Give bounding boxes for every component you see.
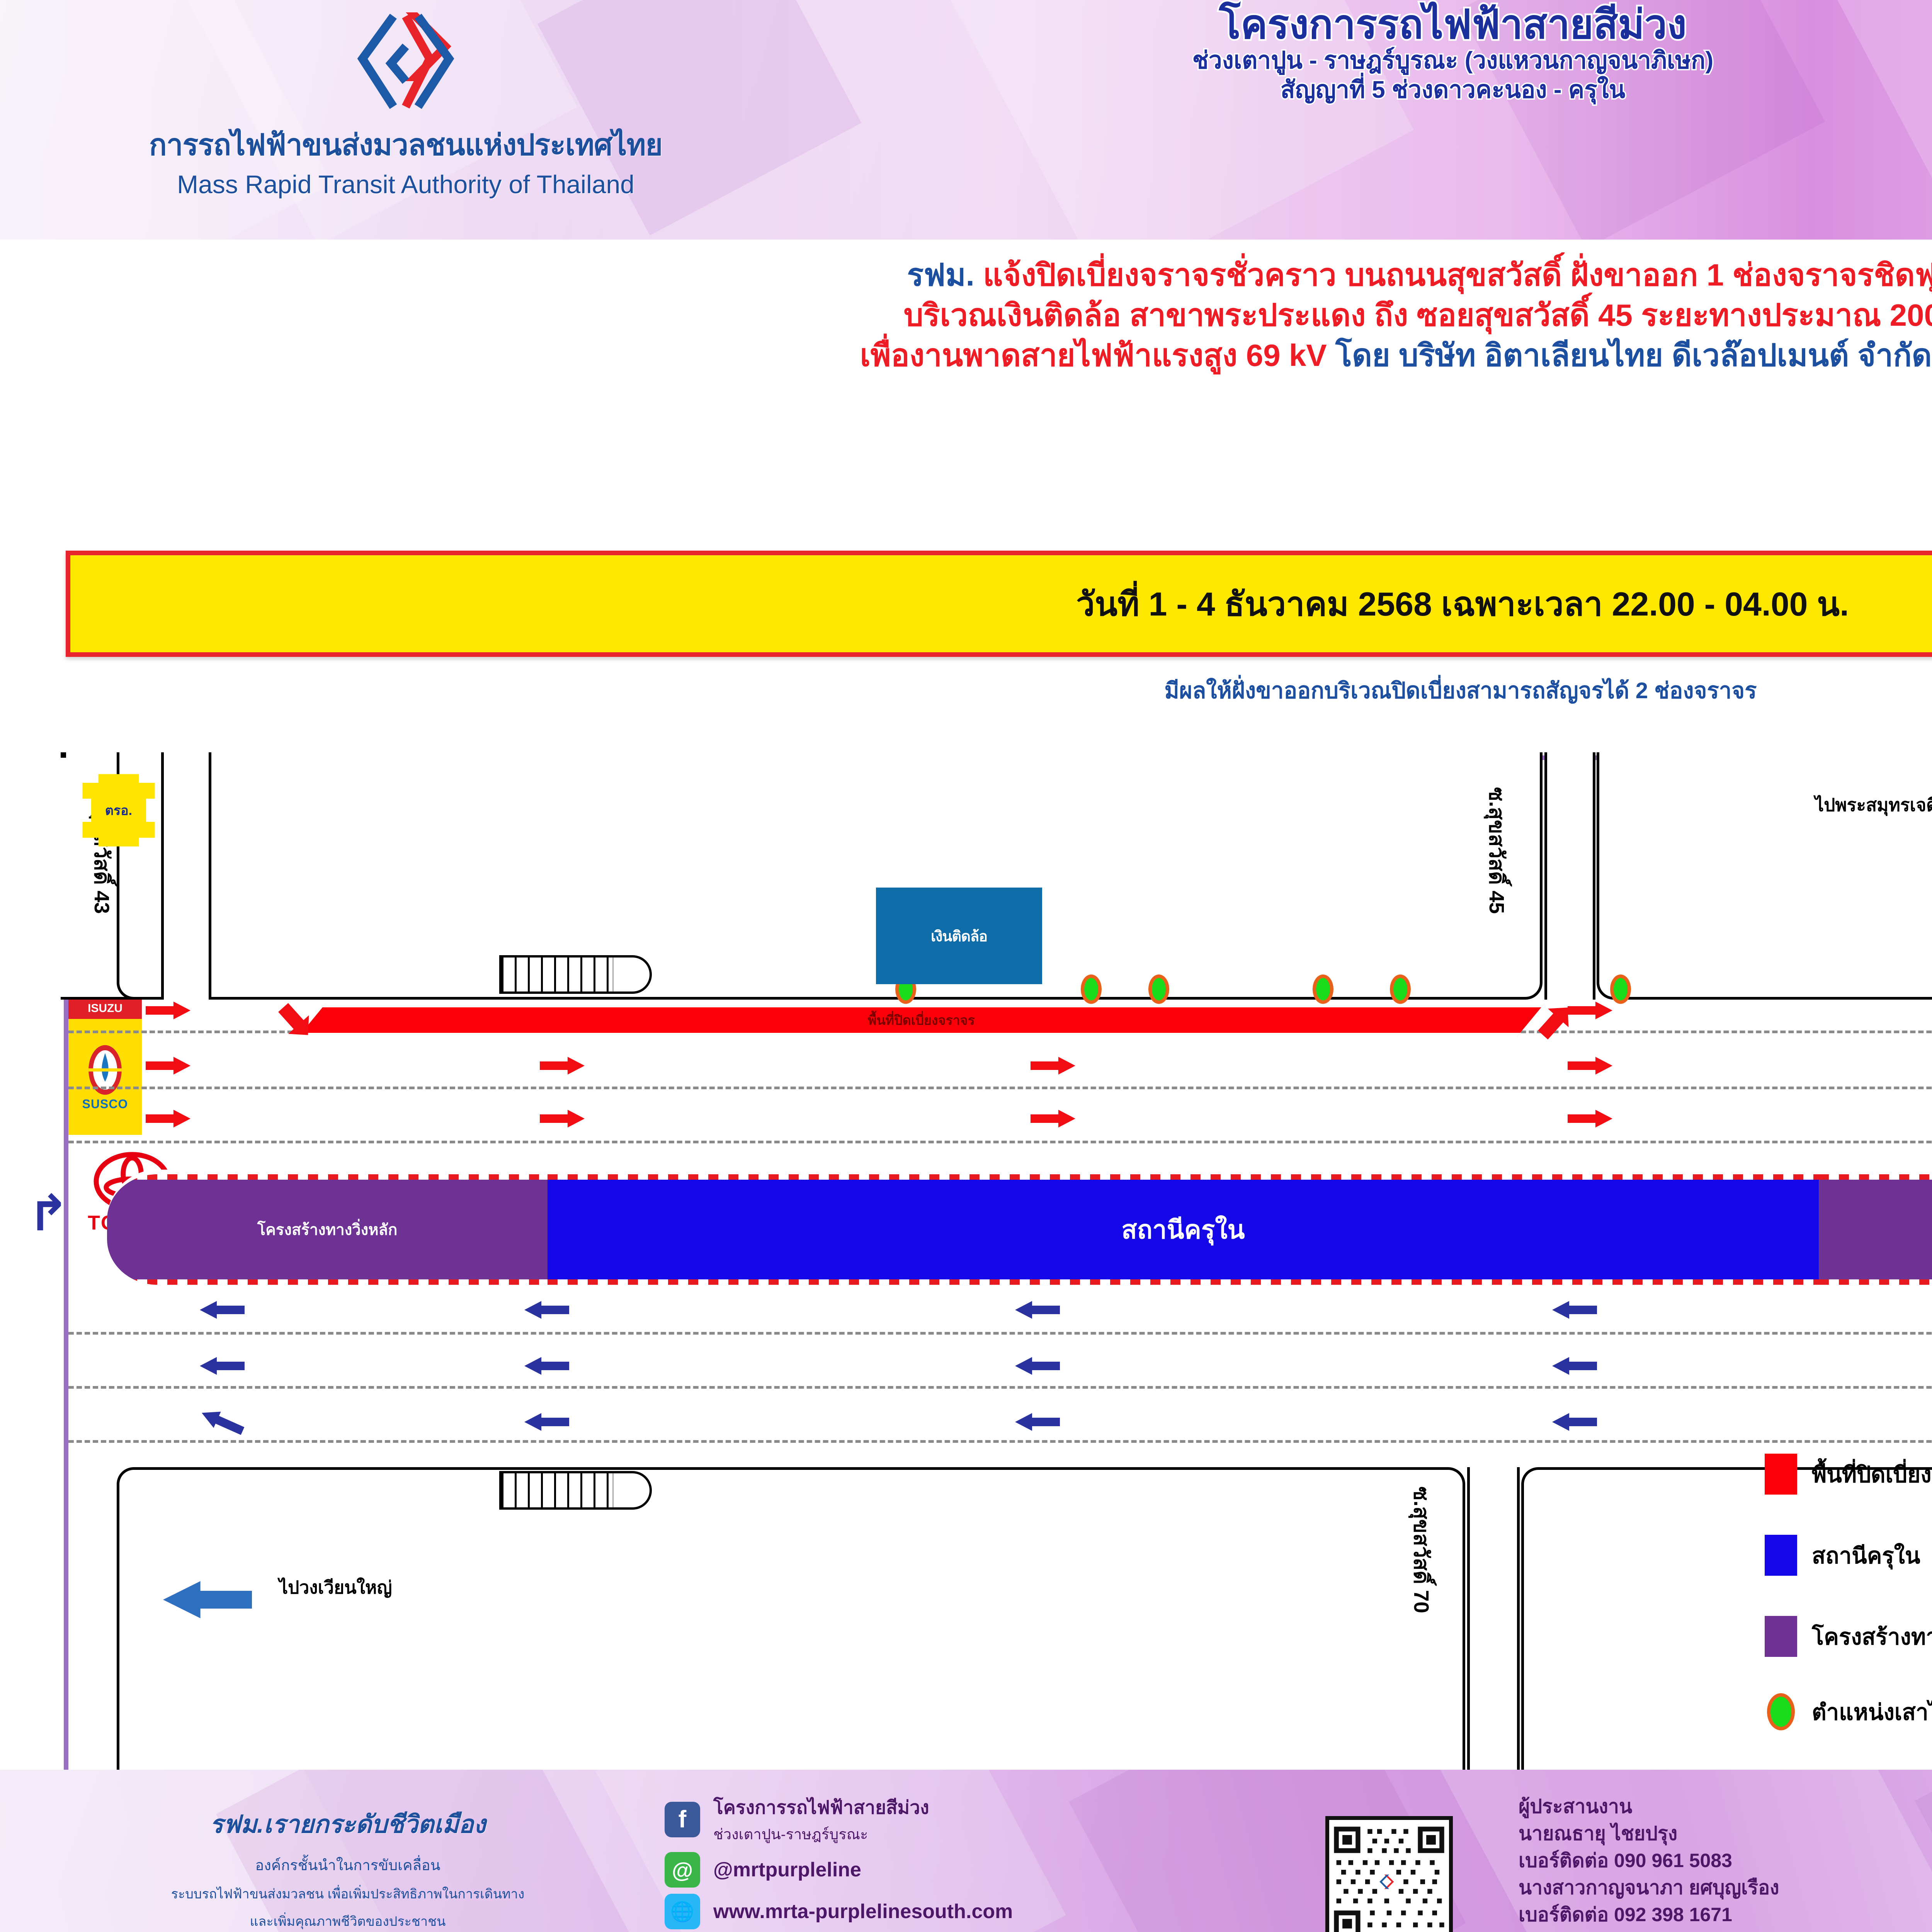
announcement-line-3-red: เพื่องานพาดสายไฟฟ้าแรงสูง 69 kV — [860, 338, 1327, 372]
arrow-out-9 — [1568, 1057, 1612, 1075]
structure-left-label: โครงสร้างทางวิ่งหลัก — [257, 1217, 398, 1242]
parcel-north-block-b — [1597, 752, 1932, 1000]
announcement-prefix: รฟม. — [907, 258, 975, 292]
high-voltage-pole-5 — [1390, 975, 1411, 1004]
lane-divider-5 — [68, 1386, 1932, 1389]
soi-45-road — [1544, 752, 1595, 1000]
announcement-line-3-blue: โดย บริษัท อิตาเลียนไทย ดีเวล๊อปเมนต์ จำ… — [1335, 338, 1932, 372]
project-header: โครงการรถไฟฟ้าสายสีม่วง ช่วงเตาปูน - ราษ… — [920, 4, 1932, 104]
coordinator-phone-1: เบอร์ติดต่อ 090 961 5083 — [1519, 1847, 1779, 1874]
lane-divider-6 — [68, 1440, 1932, 1443]
website-url: www.mrta-purplelinesouth.com — [713, 1900, 1013, 1923]
qr-code-icon — [1329, 1820, 1449, 1932]
footer-social: f โครงการรถไฟฟ้าสายสีม่วง ช่วงเตาปูน-ราษ… — [665, 1793, 1283, 1932]
arrow-out-8 — [1568, 1002, 1612, 1019]
arrow-in-7 — [1015, 1301, 1060, 1319]
high-voltage-pole-2 — [1081, 975, 1102, 1004]
line-at-icon[interactable]: @ — [665, 1852, 700, 1888]
map-legend: พื้นที่ปิดเบี่ยงจราจร สถานีครุใน โครงสร้… — [1765, 1454, 1932, 1740]
qr-code[interactable] — [1325, 1816, 1453, 1932]
arrow-in-6 — [524, 1413, 569, 1431]
brand-ngerntidlor: เงินติดล้อ — [876, 888, 1042, 984]
social-line-row[interactable]: @ @mrtpurpleline — [665, 1852, 1283, 1888]
arrow-in-9 — [1015, 1413, 1060, 1431]
crosswalk-cap-south-west — [613, 1471, 652, 1510]
legend-swatch-station — [1765, 1535, 1797, 1576]
line-id: @mrtpurpleline — [713, 1858, 861, 1881]
facebook-icon[interactable]: f — [665, 1802, 700, 1837]
legend-label-structure: โครงสร้างทางวิ่งหลัก — [1812, 1619, 1932, 1655]
arrow-in-5 — [524, 1357, 569, 1375]
arrow-out-1 — [146, 1002, 190, 1019]
announcement-block: รฟม. แจ้งปิดเบี่ยงจราจรชั่วคราว บนถนนสุข… — [0, 255, 1932, 376]
coordinator-phone-2: เบอร์ติดต่อ 092 398 1671 — [1519, 1901, 1779, 1928]
brand-isuzu-label: ISUZU — [88, 1002, 122, 1019]
legend-label-closed: พื้นที่ปิดเบี่ยงจราจร — [1812, 1456, 1932, 1492]
slogan-sub-1: องค์กรชั้นนำในการขับเคลื่อน — [46, 1853, 649, 1877]
arrow-out-6 — [1031, 1057, 1075, 1075]
slogan-main: รฟม.เรายกระดับชีวิตเมือง — [46, 1804, 649, 1844]
parcel-north-mid — [61, 752, 66, 758]
brand-susco: SUSCO — [68, 1019, 142, 1135]
slogan-sub-2: ระบบรถไฟฟ้าขนส่งมวลชน เพื่อเพิ่มประสิทธิ… — [46, 1884, 649, 1904]
arrow-out-7 — [1031, 1110, 1075, 1128]
social-website-row[interactable]: 🌐 www.mrta-purplelinesouth.com — [665, 1894, 1283, 1929]
arrow-out-10 — [1568, 1110, 1612, 1128]
soi-43-road — [161, 752, 211, 1000]
traffic-diagram: ซ.สุขสวัสดิ์ 43 ซ.สุขสวัสดิ์ 45 ซ.สุขสวั… — [64, 755, 1932, 1776]
closed-zone-label: พื้นที่ปิดเบี่ยงจราจร — [868, 1010, 975, 1031]
high-voltage-pole-4 — [1313, 975, 1333, 1004]
parcel-north-block-a — [117, 752, 1543, 1000]
arrow-in-4 — [524, 1301, 569, 1319]
lane-divider-3 — [68, 1141, 1932, 1143]
sub-note: มีผลให้ฝั่งขาออกบริเวณปิดเบี่ยงสามารถสัญ… — [0, 672, 1932, 708]
coordinator-heading: ผู้ประสานงาน — [1519, 1793, 1779, 1820]
announcement-line-1: แจ้งปิดเบี่ยงจราจรชั่วคราว บนถนนสุขสวัสด… — [983, 258, 1932, 292]
arrow-in-3 — [198, 1405, 247, 1439]
closed-lane-zone: พื้นที่ปิดเบี่ยงจราจร — [298, 1003, 1544, 1037]
arrow-in-11 — [1552, 1357, 1597, 1375]
lane-divider-2 — [68, 1087, 1932, 1089]
u-turn-left-icon: ↱ — [28, 1189, 69, 1238]
direction-in-label: ไปวงเวียนใหญ่ — [279, 1573, 392, 1602]
lane-divider-4 — [68, 1332, 1932, 1335]
footer-slogan: รฟม.เรายกระดับชีวิตเมือง องค์กรชั้นนำในก… — [46, 1804, 649, 1932]
mrta-name-english: Mass Rapid Transit Authority of Thailand — [27, 170, 784, 199]
mrta-name-thai: การรถไฟฟ้าขนส่งมวลชนแห่งประเทศไทย — [27, 122, 784, 168]
arrow-in-10 — [1552, 1301, 1597, 1319]
high-voltage-pole-6 — [1610, 975, 1631, 1004]
mrta-logo-block: การรถไฟฟ้าขนส่งมวลชนแห่งประเทศไทย Mass R… — [27, 4, 784, 228]
parcel-south-block-a — [117, 1467, 1465, 1772]
legend-item-station: สถานีครุใน — [1765, 1535, 1920, 1576]
soi-label-45: ซ.สุขสวัสดิ์ 45 — [1480, 787, 1514, 914]
brand-ngerntidlor-label: เงินติดล้อ — [931, 924, 987, 948]
brand-susco-label: SUSCO — [82, 1097, 128, 1111]
facebook-page-sub: ช่วงเตาปูน-ราษฎร์บูรณะ — [713, 1822, 929, 1846]
footer-coordinator: ผู้ประสานงาน นายณธายุ ไชยปรุง เบอร์ติดต่… — [1519, 1793, 1779, 1928]
legend-item-closed: พื้นที่ปิดเบี่ยงจราจร — [1765, 1454, 1932, 1495]
globe-icon[interactable]: 🌐 — [665, 1894, 700, 1929]
crosswalk-south-west — [499, 1471, 615, 1510]
arrow-in-8 — [1015, 1357, 1060, 1375]
legend-swatch-closed — [1765, 1454, 1797, 1495]
arrow-out-5 — [540, 1110, 585, 1128]
mrta-logo-icon — [348, 9, 464, 117]
station-structure: สถานีครุใน — [548, 1170, 1819, 1289]
legend-swatch-structure — [1765, 1616, 1797, 1657]
soi-label-70: ซ.สุขสวัสดิ์ 70 — [1405, 1486, 1438, 1613]
date-time-banner: วันที่ 1 - 4 ธันวาคม 2568 เฉพาะเวลา 22.0… — [66, 551, 1932, 657]
project-title: โครงการรถไฟฟ้าสายสีม่วง — [920, 4, 1932, 46]
facebook-page-title: โครงการรถไฟฟ้าสายสีม่วง — [713, 1793, 929, 1822]
coordinator-name-2: นางสาวกาญจนาภา ยศบุญเรือง — [1519, 1874, 1779, 1901]
legend-item-pole: ตำแหน่งเสาไฟฟ้าแรงสูง — [1767, 1693, 1932, 1730]
legend-swatch-pole — [1767, 1693, 1795, 1730]
station-label: สถานีครุใน — [1121, 1209, 1245, 1250]
legend-item-structure: โครงสร้างทางวิ่งหลัก — [1765, 1616, 1932, 1657]
arrow-in-12 — [1552, 1413, 1597, 1431]
soi-70-road — [1467, 1467, 1520, 1772]
announcement-line-2: บริเวณเงินติดล้อ สาขาพระประแดง ถึง ซอยสุ… — [0, 295, 1932, 335]
date-time-text: วันที่ 1 - 4 ธันวาคม 2568 เฉพาะเวลา 22.0… — [1076, 577, 1849, 630]
arrow-in-1 — [200, 1301, 245, 1319]
structure-right-segment: โครงสร้างทางวิ่งหลัก — [1819, 1170, 1932, 1289]
project-contract: สัญญาที่ 5 ช่วงดาวคะนอง - ครุใน — [920, 75, 1932, 105]
high-voltage-pole-3 — [1148, 975, 1169, 1004]
social-facebook-row[interactable]: f โครงการรถไฟฟ้าสายสีม่วง ช่วงเตาปูน-ราษ… — [665, 1793, 1283, 1846]
legend-label-station: สถานีครุใน — [1812, 1537, 1920, 1573]
arrow-in-2 — [200, 1357, 245, 1375]
coordinator-name-1: นายณธายุ ไชยปรุง — [1519, 1820, 1779, 1847]
crosswalk-north-west — [499, 955, 615, 994]
project-segment: ช่วงเตาปูน - ราษฎร์บูรณะ (วงแหวนกาญจนาภิ… — [920, 46, 1932, 75]
arrow-out-3 — [146, 1110, 190, 1128]
structure-left-segment: โครงสร้างทางวิ่งหลัก — [107, 1170, 548, 1289]
arrow-out-2 — [146, 1057, 190, 1075]
crosswalk-cap-north-west — [613, 955, 652, 994]
slogan-sub-3: และเพิ่มคุณภาพชีวิตของประชาชน — [46, 1912, 649, 1932]
arrow-out-4 — [540, 1057, 585, 1075]
legend-label-pole: ตำแหน่งเสาไฟฟ้าแรงสูง — [1812, 1694, 1932, 1730]
direction-out-label: ไปพระสมุทรเจดีย์ — [1815, 791, 1932, 819]
brand-tror-label: ตรอ. — [105, 800, 132, 821]
